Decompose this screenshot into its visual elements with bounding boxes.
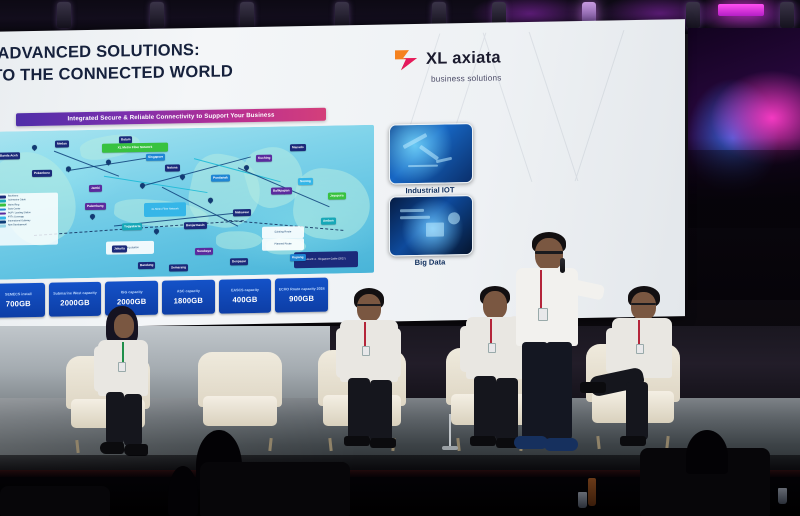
map-city-label: Jambi (89, 185, 102, 192)
big-data-caption: Big Data (384, 257, 476, 268)
legend-label: Backbone (8, 195, 18, 197)
xl-axiata-mark-icon (393, 46, 419, 72)
map-city-label: Singapore (146, 154, 165, 161)
stat-box: ECHO Route capacity 2024 900GB (275, 278, 328, 313)
stage-lamp (780, 2, 794, 28)
legend-label: POP / Landing Station (8, 212, 31, 215)
map-city-label: Manado (290, 144, 306, 151)
stat-value: 400GB (232, 295, 257, 304)
map-city-label: Kuching (256, 155, 272, 162)
map-city-label: Palembang (85, 203, 106, 210)
legend-label: New Development (8, 225, 27, 228)
stage-lamp (57, 2, 71, 28)
map-callout: XL Metro Fiber Network (144, 202, 186, 217)
map-city-label: Natuna (165, 164, 180, 171)
map-city-label: Makassar (233, 209, 251, 216)
stat-box: EASCS capacity 400GB (219, 279, 272, 314)
stage-lamp (686, 2, 700, 28)
map-city-label: Denpasar (230, 258, 248, 265)
stat-value: 2000GB (117, 297, 146, 307)
map-city-label: Semarang (169, 264, 188, 271)
mic-stand-base (442, 446, 458, 450)
stat-value: 700GB (6, 299, 31, 308)
map-city-label: Balikpapan (271, 187, 292, 194)
map-legend: Backbone Submarine Cable Metro Ring Data… (0, 193, 58, 246)
stat-box: SEMECS install 700GB (0, 283, 45, 318)
microphone[interactable] (560, 258, 565, 273)
map-city-label: XL Metro Fiber Network (102, 143, 168, 153)
map-city-label: Surabaya (195, 248, 213, 255)
map-city-label: Sorong (298, 178, 313, 185)
panelist-4 (606, 286, 692, 456)
stage-lamp (150, 2, 164, 28)
map-city-label: Jayapura (328, 192, 346, 199)
map-city-label: Bandung (138, 262, 155, 269)
stat-value: 900GB (289, 294, 314, 303)
legend-label: International Gateway (8, 220, 30, 223)
speaker-standing (506, 232, 606, 472)
audience-head (686, 430, 728, 474)
map-city-label: Yogyakarta (122, 223, 142, 230)
led-bar-light (718, 4, 764, 16)
slide-banner: Integrated Secure & Reliable Connectivit… (16, 108, 326, 127)
mic-stand (449, 414, 451, 448)
bottle (588, 478, 596, 506)
audience-chair (200, 462, 350, 516)
slide-title: ACH & ADVANCED SOLUTIONS: EWAY TO THE CO… (0, 37, 360, 88)
map-callout: Planned Route (262, 238, 304, 251)
side-panel-shadow (688, 150, 800, 300)
glasses-icon (535, 251, 563, 254)
map-city-label: Ambon (321, 217, 336, 224)
map-city-label: Banjarmasin (184, 222, 207, 229)
legend-label: Submarine Cable (8, 199, 26, 202)
map-city-label: Jakarta (112, 245, 127, 252)
network-map: Backbone Submarine Cable Metro Ring Data… (0, 125, 374, 280)
slide-banner-text: Integrated Secure & Reliable Connectivit… (67, 112, 274, 123)
audience-chair (0, 486, 110, 516)
stat-label: SEMECS install (5, 292, 32, 297)
industrial-iot-caption: Industrial IOT (384, 185, 476, 196)
stat-label: EASCS capacity (231, 288, 259, 293)
legend-label: Metro Ring (8, 204, 19, 207)
big-data-thumbnail (389, 195, 473, 257)
stat-label: IGG capacity (121, 290, 143, 295)
stat-label: ASC capacity (177, 289, 200, 294)
drinking-glass (778, 488, 787, 504)
conference-photo: ACH & ADVANCED SOLUTIONS: EWAY TO THE CO… (0, 0, 800, 516)
stat-box: ASC capacity 1800GB (162, 280, 215, 315)
legend-label: FTTx Coverage (8, 216, 24, 219)
map-city-label: Banda Aceh (0, 152, 20, 159)
panelist-1 (92, 306, 162, 466)
stat-label: ECHO Route capacity 2024 (279, 287, 325, 292)
stage-lamp (240, 2, 254, 28)
industrial-iot-thumbnail (389, 123, 473, 185)
stat-value: 2000GB (60, 298, 89, 308)
stat-label: Submarine West capacity (53, 291, 96, 296)
panelist-2 (336, 288, 416, 458)
brand-name: XL axiata (426, 49, 501, 67)
capacity-stats-row: SEMECS install 700GB Submarine West capa… (0, 278, 328, 318)
brand-tagline: business solutions (431, 73, 523, 84)
stat-value: 1800GB (174, 296, 203, 306)
legend-label: Data Center (8, 208, 20, 211)
map-city-label: Pekanbaru (32, 170, 52, 177)
badge (538, 308, 548, 321)
map-city-label: Pontianak (211, 174, 230, 181)
drinking-glass (578, 492, 587, 508)
map-city-label: Kupang (290, 254, 306, 261)
panel-chair (198, 352, 282, 440)
map-callout: Existing Route (262, 226, 304, 239)
map-city-label: Medan (55, 140, 69, 147)
brand-logo: XL axiata business solutions (393, 44, 523, 84)
stage-lamp (335, 2, 349, 28)
